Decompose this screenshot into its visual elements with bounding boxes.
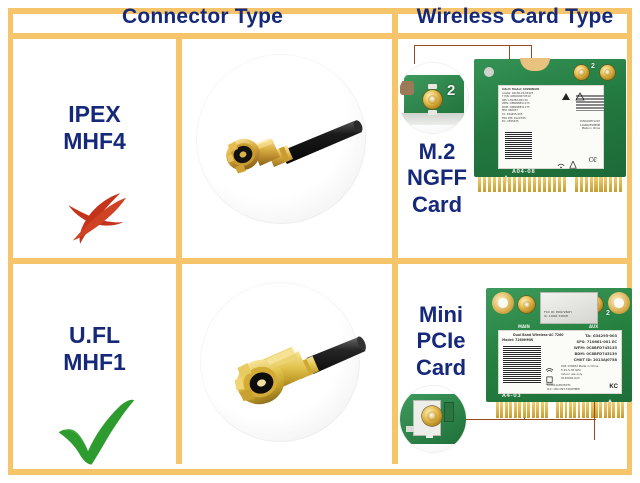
minipcie-screwhole-right	[608, 292, 630, 314]
header-wireless-card-type-label: Wireless Card Type	[417, 5, 614, 29]
row1-connector-name-line1: IPEX	[68, 101, 120, 128]
row1-card-label-line1: M.2	[400, 139, 474, 165]
minipcie-gold-fingers-right	[556, 402, 624, 418]
minipcie-regulatory-label: Dual Band Wireless-AC 7260 Model: 7260HM…	[498, 330, 622, 394]
minipcie-aux-number: 2	[606, 310, 610, 317]
grid-line-bottom	[8, 469, 632, 475]
minipcie-serial-line-3: BDM: 0C8BFD745139	[575, 352, 617, 357]
minipcie-serial-line-1: SPS: 710661-001 EC	[577, 340, 617, 345]
header-connector-type-label: Connector Type	[122, 5, 283, 29]
minipcie-socket-main-center	[523, 301, 531, 309]
check-icon	[52, 396, 138, 466]
inset-socket-clip-top	[428, 84, 437, 89]
row2-card-cell: Mini PCIe Card	[398, 264, 632, 469]
minipcie-weee-icon	[545, 372, 554, 381]
minipcie-screwhole-left	[492, 292, 514, 314]
minipcie-key-notch	[548, 402, 556, 418]
m2-silkscreen-text: A04-08	[512, 169, 535, 175]
minipcie-silkscreen-text: A4-03	[502, 393, 521, 399]
minipcie-serial-line-0: TA: G34295-003	[585, 334, 617, 339]
callout-line-vertical-1	[414, 45, 415, 64]
m2-label-serials: 1S5N10M71207 11SK00F9088M Made in China	[580, 120, 600, 131]
mhf4-connector-photo	[204, 91, 374, 191]
minipcie-label-line-1: Model: 7260HMW	[502, 338, 533, 342]
minipcie-edge-connector	[496, 402, 624, 418]
row1-card-label-line3: Card	[400, 192, 474, 218]
minipcie-serial-line-2: WFM: 0C8BFD745135	[574, 346, 617, 351]
row1-connector-name-cell: IPEX MHF4	[13, 39, 176, 258]
mini-pcie-wireless-card-photo: 2 MAIN AUX FCC ID: PD97260H IC: 1000I-72…	[486, 288, 632, 420]
m2-socket-2-center	[604, 69, 611, 76]
inset-ufl-socket-center	[428, 95, 437, 104]
m2-label-textblock: Intel® Model: AX200NGW Anatel: 04136.19-…	[502, 88, 539, 124]
row2-card-label-line2: PCIe	[402, 328, 480, 354]
m2-gold-fingers-right	[575, 177, 622, 192]
minipcie-footer-line-3: 0132002-023	[561, 377, 580, 381]
minipcie-connector-inset	[400, 386, 466, 452]
inset-socket-clip-bottom	[428, 110, 437, 115]
cross-icon	[56, 177, 134, 251]
minipcie-shield-can	[540, 292, 598, 324]
m2-socket-1-center	[578, 69, 585, 76]
ufl-mhf1-connector-photo	[208, 316, 374, 421]
inset-component-b	[406, 426, 414, 432]
callout-line-horizontal-2	[509, 45, 532, 46]
m2-ce-mark: C€	[589, 157, 597, 164]
minipcie-port-aux-label: AUX	[589, 324, 598, 330]
minipcie-gold-fingers-left	[496, 402, 548, 418]
m2-key-notch	[566, 177, 575, 192]
minipcie-socket-main	[518, 296, 535, 313]
row1-card-cell: 2 M.2 NGFF Card 2 I	[398, 39, 632, 258]
m2-socket-1	[574, 65, 589, 80]
header-connector-type: Connector Type	[13, 0, 392, 33]
m2-warning-triangles	[561, 89, 589, 107]
m2-socket-2	[600, 65, 615, 80]
m2-gold-fingers-left	[478, 177, 566, 192]
header-wireless-card-type: Wireless Card Type	[398, 0, 632, 33]
inset-minipcie-socket	[422, 406, 442, 426]
minipcie-wifi-icon	[545, 361, 554, 370]
m2-wifi-icon	[557, 156, 565, 164]
minipcie-fcc-line-1: IC: 1000I-7260H	[544, 314, 568, 318]
row1-connector-photo-cell	[182, 39, 392, 258]
m2-qr-code	[505, 132, 532, 159]
m2-socket-number: 2	[591, 63, 595, 70]
inset-port-number: 2	[447, 82, 455, 99]
minipcie-kc-icon: KC	[609, 384, 618, 390]
inset-brown-patch	[400, 81, 414, 95]
m2-ngff-wireless-card-photo: 2 Intel® Model: AX200NGW Anatel: 04136.1…	[474, 59, 626, 194]
m2-regulatory-label: Intel® Model: AX200NGW Anatel: 04136.19-…	[498, 85, 604, 169]
m2-component	[484, 67, 494, 77]
m2-label-line-9: EC: 2595435	[502, 120, 539, 124]
row2-connector-photo-cell	[182, 264, 392, 469]
row2-card-label-line3: Card	[402, 355, 480, 381]
minipcie-qr-code	[503, 345, 541, 383]
inset-minipcie-socket-center	[427, 411, 437, 421]
m2-connector-inset: 2	[398, 63, 468, 133]
row2-connector-name-line1: U.FL	[69, 322, 120, 349]
inset-component-a	[444, 402, 454, 422]
minipcie-label-line-0: Dual Band Wireless-AC 7260	[513, 333, 564, 337]
minipcie-port-main-label: MAIN	[518, 324, 530, 330]
row1-card-label-line2: NGFF	[400, 165, 474, 191]
row1-connector-name-line2: MHF4	[63, 128, 126, 155]
row1-card-label: M.2 NGFF Card	[400, 139, 474, 218]
inset-ufl-socket	[423, 90, 442, 109]
comparison-table: Connector Type Wireless Card Type IPEX M…	[0, 0, 640, 483]
m2-serial-line-2: Made in China	[580, 127, 600, 131]
m2-edge-connector	[478, 177, 622, 192]
row2-card-label-line1: Mini	[402, 302, 480, 328]
callout-line-horizontal	[414, 45, 510, 46]
inset-component-c	[426, 430, 433, 438]
m2-recycle-icon	[569, 156, 577, 164]
row2-card-label: Mini PCIe Card	[402, 302, 480, 381]
minipcie-footer-line-5: ICC: CRU-INT-7260HMW	[547, 388, 580, 392]
row2-connector-name-line2: MHF1	[63, 349, 126, 376]
minipcie-serial-line-4: CMIIT ID: 2013AJ0758	[574, 358, 617, 363]
row2-connector-name-cell: U.FL MHF1	[13, 264, 176, 469]
